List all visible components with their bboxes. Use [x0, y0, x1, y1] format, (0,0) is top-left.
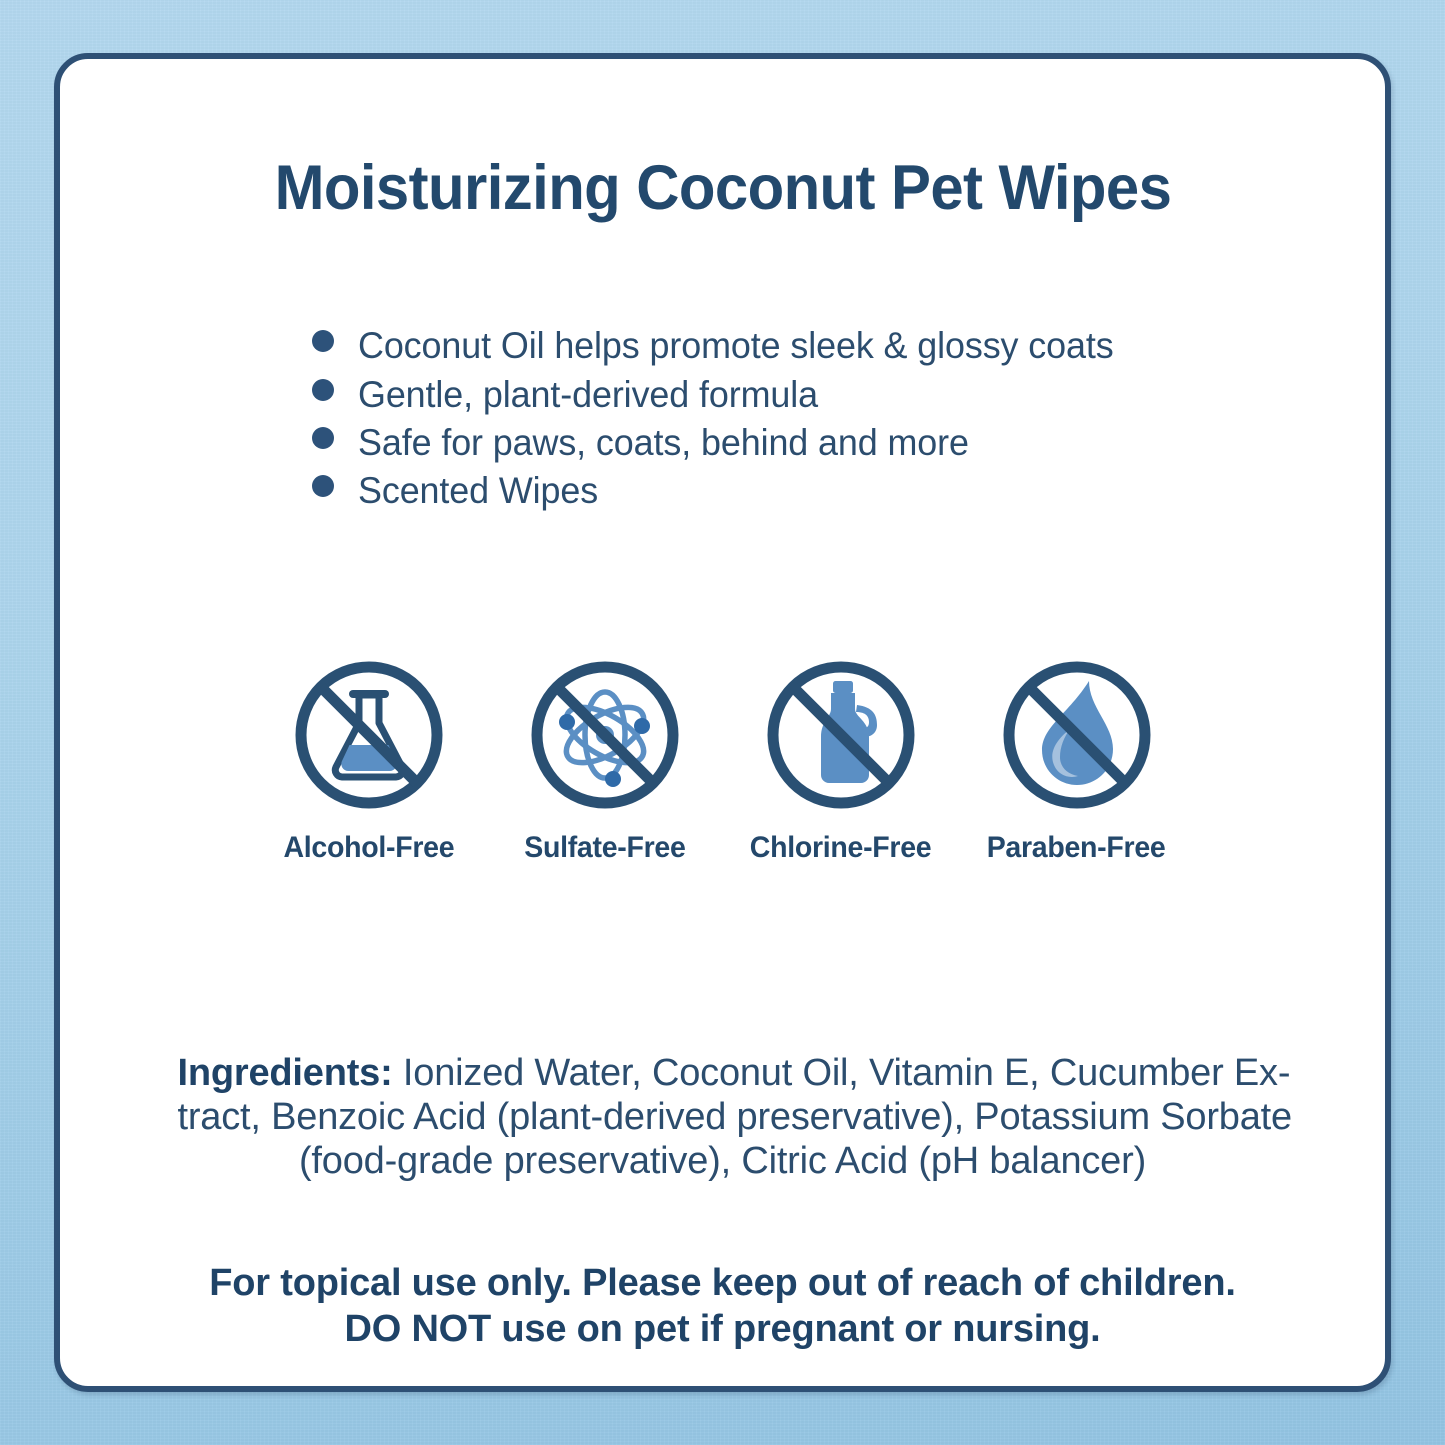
badge-sulfate-free: Sulfate-Free [512, 655, 698, 865]
feature-text: Safe for paws, coats, behind and more [358, 422, 969, 463]
feature-list: Coconut Oil helps promote sleek & glossy… [312, 325, 1137, 519]
content-card: Moisturizing Coconut Pet Wipes Coconut O… [54, 53, 1391, 1392]
ingredients-block: Ingredients: Ionized Water, Coconut Oil,… [178, 1051, 1268, 1183]
bullet-dot-icon [312, 475, 334, 497]
badge-label: Paraben-Free [987, 831, 1166, 865]
ingredients-line-1-rest: Ionized Water, Coconut Oil, Vitamin E, C… [393, 1052, 1291, 1094]
list-item: Coconut Oil helps promote sleek & glossy… [312, 325, 1137, 366]
no-flask-icon [289, 655, 449, 815]
no-jug-icon [761, 655, 921, 815]
feature-text: Scented Wipes [358, 470, 598, 511]
warning-line-1: For topical use only. Please keep out of… [178, 1261, 1268, 1307]
bullet-dot-icon [312, 427, 334, 449]
page-title: Moisturizing Coconut Pet Wipes [274, 155, 1171, 221]
no-atom-icon [525, 655, 685, 815]
list-item: Safe for paws, coats, behind and more [312, 422, 1137, 463]
warning-line-2: DO NOT use on pet if pregnant or nursing… [178, 1307, 1268, 1353]
list-item: Gentle, plant-derived formula [312, 374, 1137, 415]
no-droplet-icon [997, 655, 1157, 815]
ingredients-line-3: (food-grade preservative), Citric Acid (… [178, 1139, 1268, 1183]
ingredients-line-1: Ingredients: Ionized Water, Coconut Oil,… [178, 1051, 1268, 1095]
bullet-dot-icon [312, 379, 334, 401]
badge-label: Alcohol-Free [283, 831, 454, 865]
free-from-badge-row: Alcohol-Free Sulfate-Free [276, 655, 1170, 865]
product-infographic-poster: Moisturizing Coconut Pet Wipes Coconut O… [0, 0, 1445, 1445]
badge-label: Sulfate-Free [524, 831, 685, 865]
badge-paraben-free: Paraben-Free [984, 655, 1170, 865]
ingredients-line-2: tract, Benzoic Acid (plant-derived prese… [178, 1095, 1268, 1139]
badge-alcohol-free: Alcohol-Free [276, 655, 462, 865]
ingredients-heading: Ingredients: [178, 1052, 393, 1094]
bullet-dot-icon [312, 330, 334, 352]
feature-text: Coconut Oil helps promote sleek & glossy… [358, 325, 1114, 366]
badge-chlorine-free: Chlorine-Free [748, 655, 934, 865]
badge-label: Chlorine-Free [750, 831, 932, 865]
feature-text: Gentle, plant-derived formula [358, 374, 818, 415]
list-item: Scented Wipes [312, 470, 1137, 511]
warning-block: For topical use only. Please keep out of… [178, 1261, 1268, 1352]
